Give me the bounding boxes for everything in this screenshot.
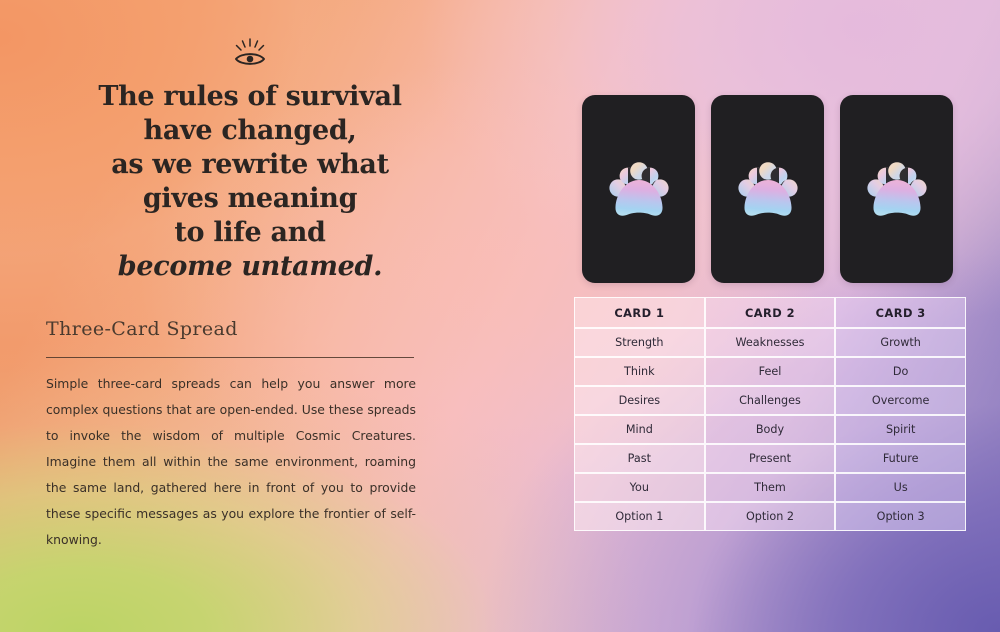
table-header-card-3: CARD 3 bbox=[835, 297, 966, 328]
table-cell: Strength bbox=[574, 328, 705, 357]
table-row: Think Feel Do bbox=[574, 357, 966, 386]
table-cell: Future bbox=[835, 444, 966, 473]
tarot-card-2[interactable] bbox=[711, 95, 824, 283]
table-row: Desires Challenges Overcome bbox=[574, 386, 966, 415]
quote-line-5: to life and bbox=[40, 216, 460, 250]
eye-with-rays-icon bbox=[0, 38, 500, 66]
table-cell: Feel bbox=[705, 357, 836, 386]
quote-line-1: The rules of survival bbox=[40, 80, 460, 114]
table-header-row: CARD 1 CARD 2 CARD 3 bbox=[574, 297, 966, 328]
table-header-card-1: CARD 1 bbox=[574, 297, 705, 328]
quote-line-2: have changed, bbox=[40, 114, 460, 148]
table-row: Mind Body Spirit bbox=[574, 415, 966, 444]
table-header-card-2: CARD 2 bbox=[705, 297, 836, 328]
left-page: The rules of survival have changed, as w… bbox=[0, 0, 500, 632]
cosmic-paw-icon bbox=[605, 157, 673, 221]
table-cell: Past bbox=[574, 444, 705, 473]
table-cell: Option 2 bbox=[705, 502, 836, 531]
section-divider bbox=[46, 357, 414, 358]
table-cell: Desires bbox=[574, 386, 705, 415]
cosmic-paw-icon bbox=[734, 157, 802, 221]
table-cell: Us bbox=[835, 473, 966, 502]
table-cell: Challenges bbox=[705, 386, 836, 415]
cosmic-paw-icon bbox=[863, 157, 931, 221]
table-cell: Option 1 bbox=[574, 502, 705, 531]
pull-quote: The rules of survival have changed, as w… bbox=[0, 80, 500, 284]
table-cell: Do bbox=[835, 357, 966, 386]
table-cell: Growth bbox=[835, 328, 966, 357]
table-cell: You bbox=[574, 473, 705, 502]
three-card-spread-table: CARD 1 CARD 2 CARD 3 Strength Weaknesses… bbox=[574, 297, 966, 531]
quote-line-3: as we rewrite what bbox=[40, 148, 460, 182]
table-cell: Think bbox=[574, 357, 705, 386]
table-cell: Spirit bbox=[835, 415, 966, 444]
right-page: CARD 1 CARD 2 CARD 3 Strength Weaknesses… bbox=[500, 0, 1000, 632]
tarot-card-1[interactable] bbox=[582, 95, 695, 283]
table-row: You Them Us bbox=[574, 473, 966, 502]
table-row: Strength Weaknesses Growth bbox=[574, 328, 966, 357]
tarot-card-row bbox=[582, 95, 953, 283]
quote-line-4: gives meaning bbox=[40, 182, 460, 216]
table-cell: Mind bbox=[574, 415, 705, 444]
tarot-card-3[interactable] bbox=[840, 95, 953, 283]
table-row: Past Present Future bbox=[574, 444, 966, 473]
table-cell: Present bbox=[705, 444, 836, 473]
table-row: Option 1 Option 2 Option 3 bbox=[574, 502, 966, 531]
table-cell: Body bbox=[705, 415, 836, 444]
table-cell: Them bbox=[705, 473, 836, 502]
section-body-text: Simple three-card spreads can help you a… bbox=[46, 371, 416, 553]
table-cell: Weaknesses bbox=[705, 328, 836, 357]
table-cell: Overcome bbox=[835, 386, 966, 415]
section-heading: Three-Card Spread bbox=[46, 318, 238, 340]
table-cell: Option 3 bbox=[835, 502, 966, 531]
quote-line-emphasis: become untamed. bbox=[40, 250, 460, 284]
